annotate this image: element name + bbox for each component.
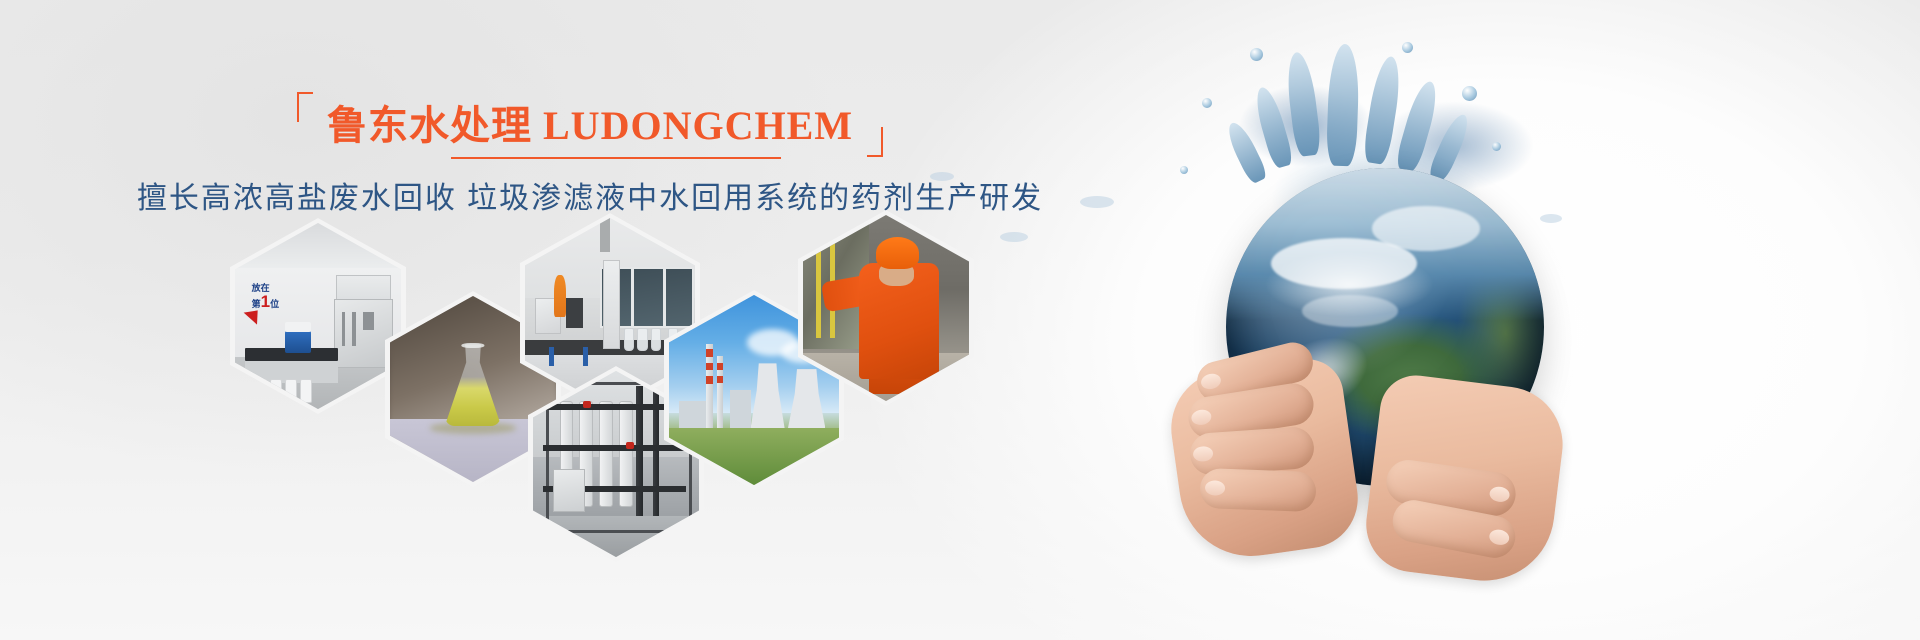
- water-droplet: [1202, 98, 1212, 108]
- hex-photo-laboratory-room[interactable]: 放在 第1位: [230, 218, 406, 414]
- bracket-top-left-icon: [297, 92, 313, 122]
- finger: [1199, 468, 1316, 512]
- page-title: 鲁东水处理 LUDONGCHEM: [313, 96, 867, 155]
- banner-text-block: 鲁东水处理 LUDONGCHEM 擅长高浓高盐废水回收 垃圾渗滤液中水回用系统的…: [0, 96, 1180, 217]
- banner-subtitle: 擅长高浓高盐废水回收 垃圾渗滤液中水回用系统的药剂生产研发: [0, 173, 1180, 217]
- water-spray: [1080, 196, 1114, 208]
- water-droplet: [1462, 86, 1477, 101]
- finger: [1189, 426, 1316, 477]
- water-spray: [930, 172, 954, 181]
- globe-artwork: [1140, 46, 1620, 640]
- water-spray: [1000, 232, 1028, 242]
- hero-banner: 鲁东水处理 LUDONGCHEM 擅长高浓高盐废水回收 垃圾渗滤液中水回用系统的…: [0, 0, 1920, 640]
- water-droplet: [1180, 166, 1188, 174]
- water-droplet: [1250, 48, 1263, 61]
- water-droplet: [1402, 42, 1413, 53]
- headline-underline: [451, 157, 781, 159]
- hexagon-photo-cluster: 放在 第1位: [230, 218, 970, 528]
- bracket-bottom-right-icon: [867, 127, 883, 157]
- water-droplet: [1492, 142, 1501, 151]
- headline-wrapper: 鲁东水处理 LUDONGCHEM: [297, 96, 883, 155]
- water-spray: [1540, 214, 1562, 223]
